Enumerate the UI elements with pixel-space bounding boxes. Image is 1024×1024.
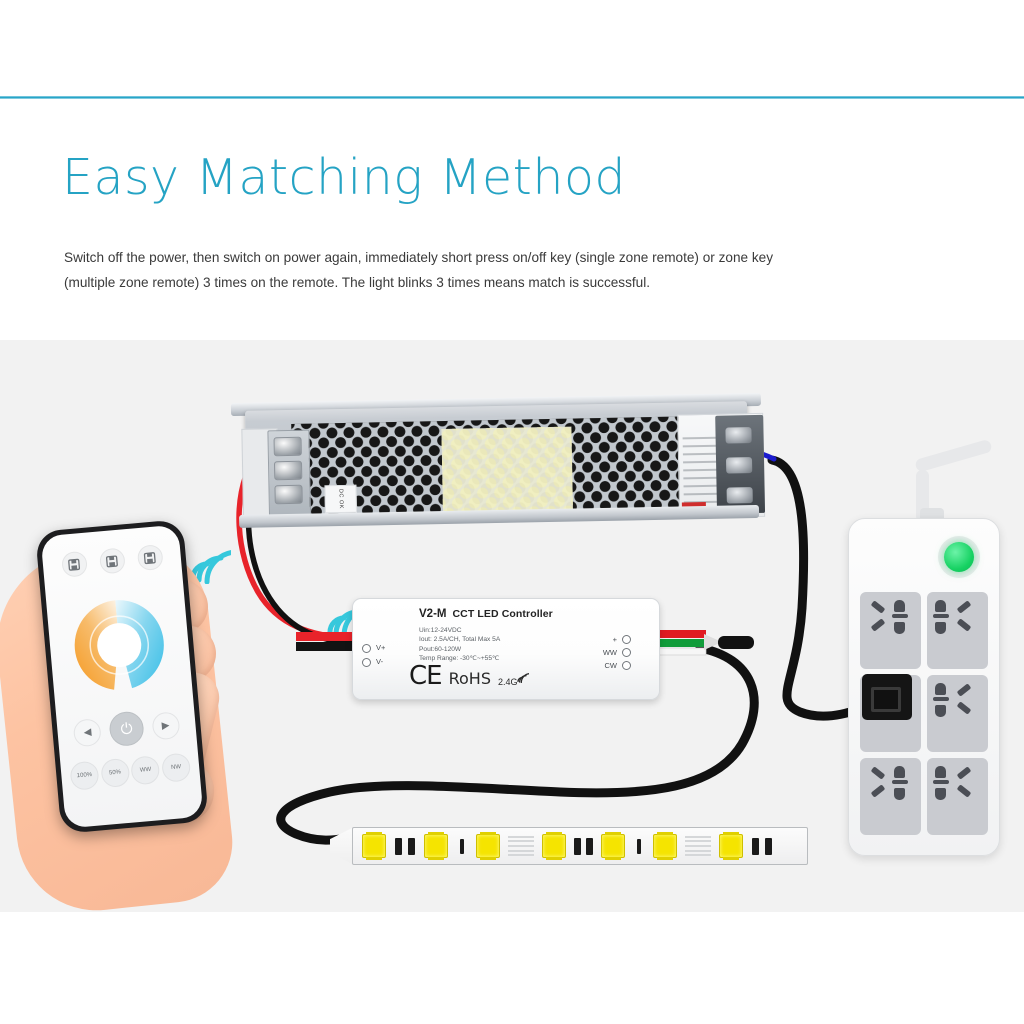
led-chip — [476, 834, 500, 858]
instruction-text: Switch off the power, then switch on pow… — [64, 245, 864, 295]
hand-holding-remote: ◀ ⏻ ▶ 100% 50% WW NW — [0, 520, 260, 912]
terminal-label-plus: + — [613, 633, 617, 646]
page-title: Easy Matching Method — [62, 152, 626, 205]
controller-model: V2-M — [419, 608, 446, 620]
socket-6[interactable] — [927, 758, 988, 835]
psu-ac-screw-2 — [726, 457, 752, 473]
controller-spec-pout: Pout:60-120W — [419, 645, 500, 654]
page-root: Easy Matching Method Switch off the powe… — [0, 0, 1024, 1024]
led-chip — [653, 834, 677, 858]
psu-dc-ok-label: DC OK — [324, 485, 357, 514]
terminal-label-v-minus: V- — [376, 655, 383, 669]
remote-zone-buttons — [42, 542, 182, 579]
controller-output-terminals: + WW CW — [603, 633, 631, 672]
led-power-supply: DC OK CE — [231, 393, 763, 528]
terminal-label-cw: CW — [605, 659, 618, 672]
cct-led-controller[interactable]: V2-MCCT LED Controller Uin:12-24VDC Iout… — [352, 598, 660, 700]
rf-band-text: 2.4G — [498, 677, 518, 687]
socket-2[interactable] — [927, 592, 988, 669]
controller-spec-list: Uin:12-24VDC Iout: 2.5A/CH, Total Max 5A… — [419, 626, 500, 664]
controller-input-terminals: V+ V- — [362, 641, 385, 669]
preset-button-ww[interactable]: WW — [130, 755, 160, 785]
rf-band-label: 2.4G — [498, 677, 518, 689]
save-icon — [143, 551, 156, 564]
psu-ac-screw-3 — [727, 487, 753, 503]
psu-ac-screw-1 — [725, 427, 751, 443]
save-icon — [105, 554, 118, 567]
socket-4[interactable] — [927, 675, 988, 752]
terminal-v-minus: V- — [362, 655, 385, 669]
led-chip — [542, 834, 566, 858]
save-zone-button-3[interactable] — [136, 544, 163, 571]
controller-spec-iout: Iout: 2.5A/CH, Total Max 5A — [419, 635, 500, 644]
cct-color-ring[interactable] — [64, 590, 175, 701]
controller-title: V2-MCCT LED Controller — [419, 608, 553, 620]
controller-output-wires — [646, 626, 756, 666]
led-resistor — [395, 838, 402, 855]
header-divider — [0, 96, 1024, 99]
power-strip[interactable] — [848, 518, 1000, 856]
plug-prong-icon — [871, 687, 901, 712]
strip-cut-mark — [508, 835, 534, 857]
preset-button-50[interactable]: 50% — [100, 758, 130, 788]
led-chip — [424, 834, 448, 858]
socket-1[interactable] — [860, 592, 921, 669]
led-chip — [601, 834, 625, 858]
previous-button[interactable]: ◀ — [73, 718, 102, 747]
power-indicator-light-icon — [944, 542, 974, 572]
led-resistor — [765, 838, 772, 855]
psu-chassis: DC OK CE — [245, 401, 749, 519]
terminal-ww: WW — [603, 646, 631, 659]
port-circle-icon — [622, 648, 631, 657]
power-strip-indicator — [938, 536, 980, 578]
terminal-label-v-plus: V+ — [376, 641, 385, 655]
port-circle-icon — [622, 661, 631, 670]
psu-illuminated-area — [441, 427, 573, 515]
preset-button-100[interactable]: 100% — [69, 760, 99, 790]
ac-plug[interactable] — [862, 674, 912, 720]
terminal-plus: + — [603, 633, 631, 646]
terminal-label-ww: WW — [603, 646, 617, 659]
remote-nav-buttons: ◀ ⏻ ▶ — [56, 706, 196, 752]
psu-terminal-screw-3 — [274, 485, 302, 505]
socket-5[interactable] — [860, 758, 921, 835]
ce-mark-icon: CE — [409, 663, 442, 689]
power-button[interactable]: ⏻ — [108, 710, 145, 747]
strip-cut-mark — [685, 835, 711, 857]
controller-spec-uin: Uin:12-24VDC — [419, 626, 500, 635]
remote-faceplate: ◀ ⏻ ▶ 100% 50% WW NW — [40, 525, 203, 829]
controller-certifications: CE RoHS 2.4G — [409, 663, 517, 689]
led-chip — [719, 834, 743, 858]
preset-button-nw[interactable]: NW — [161, 752, 191, 782]
rf-remote-control[interactable]: ◀ ⏻ ▶ 100% 50% WW NW — [35, 519, 209, 834]
save-zone-button-2[interactable] — [98, 547, 125, 574]
save-icon — [68, 558, 81, 571]
led-resistor — [408, 838, 415, 855]
terminal-v-plus: V+ — [362, 641, 385, 655]
led-resistor — [460, 839, 464, 854]
save-zone-button-1[interactable] — [60, 551, 87, 578]
port-circle-icon — [362, 658, 371, 667]
instruction-line-2: (multiple zone remote) 3 times on the re… — [64, 270, 864, 295]
port-circle-icon — [362, 644, 371, 653]
psu-ac-terminal-block — [715, 415, 765, 514]
wifi-waves-icon — [517, 672, 529, 683]
psu-terminal-screw-1 — [274, 437, 302, 457]
led-resistor — [752, 838, 759, 855]
instruction-line-1: Switch off the power, then switch on pow… — [64, 245, 864, 270]
terminal-cw: CW — [603, 659, 631, 672]
controller-input-wires — [296, 630, 358, 654]
wiring-diagram-panel: DC OK CE — [0, 340, 1024, 912]
psu-dc-terminal-block — [267, 430, 311, 521]
controller-type: CCT LED Controller — [452, 608, 552, 620]
led-resistor — [586, 838, 593, 855]
next-button[interactable]: ▶ — [151, 711, 180, 740]
remote-preset-buttons: 100% 50% WW NW — [60, 752, 200, 792]
port-circle-icon — [622, 635, 631, 644]
led-strip — [352, 827, 808, 865]
rohs-mark: RoHS — [449, 669, 491, 689]
led-resistor — [637, 839, 641, 854]
led-resistor — [574, 838, 581, 855]
psu-terminal-screw-2 — [274, 461, 302, 481]
led-chip — [362, 834, 386, 858]
